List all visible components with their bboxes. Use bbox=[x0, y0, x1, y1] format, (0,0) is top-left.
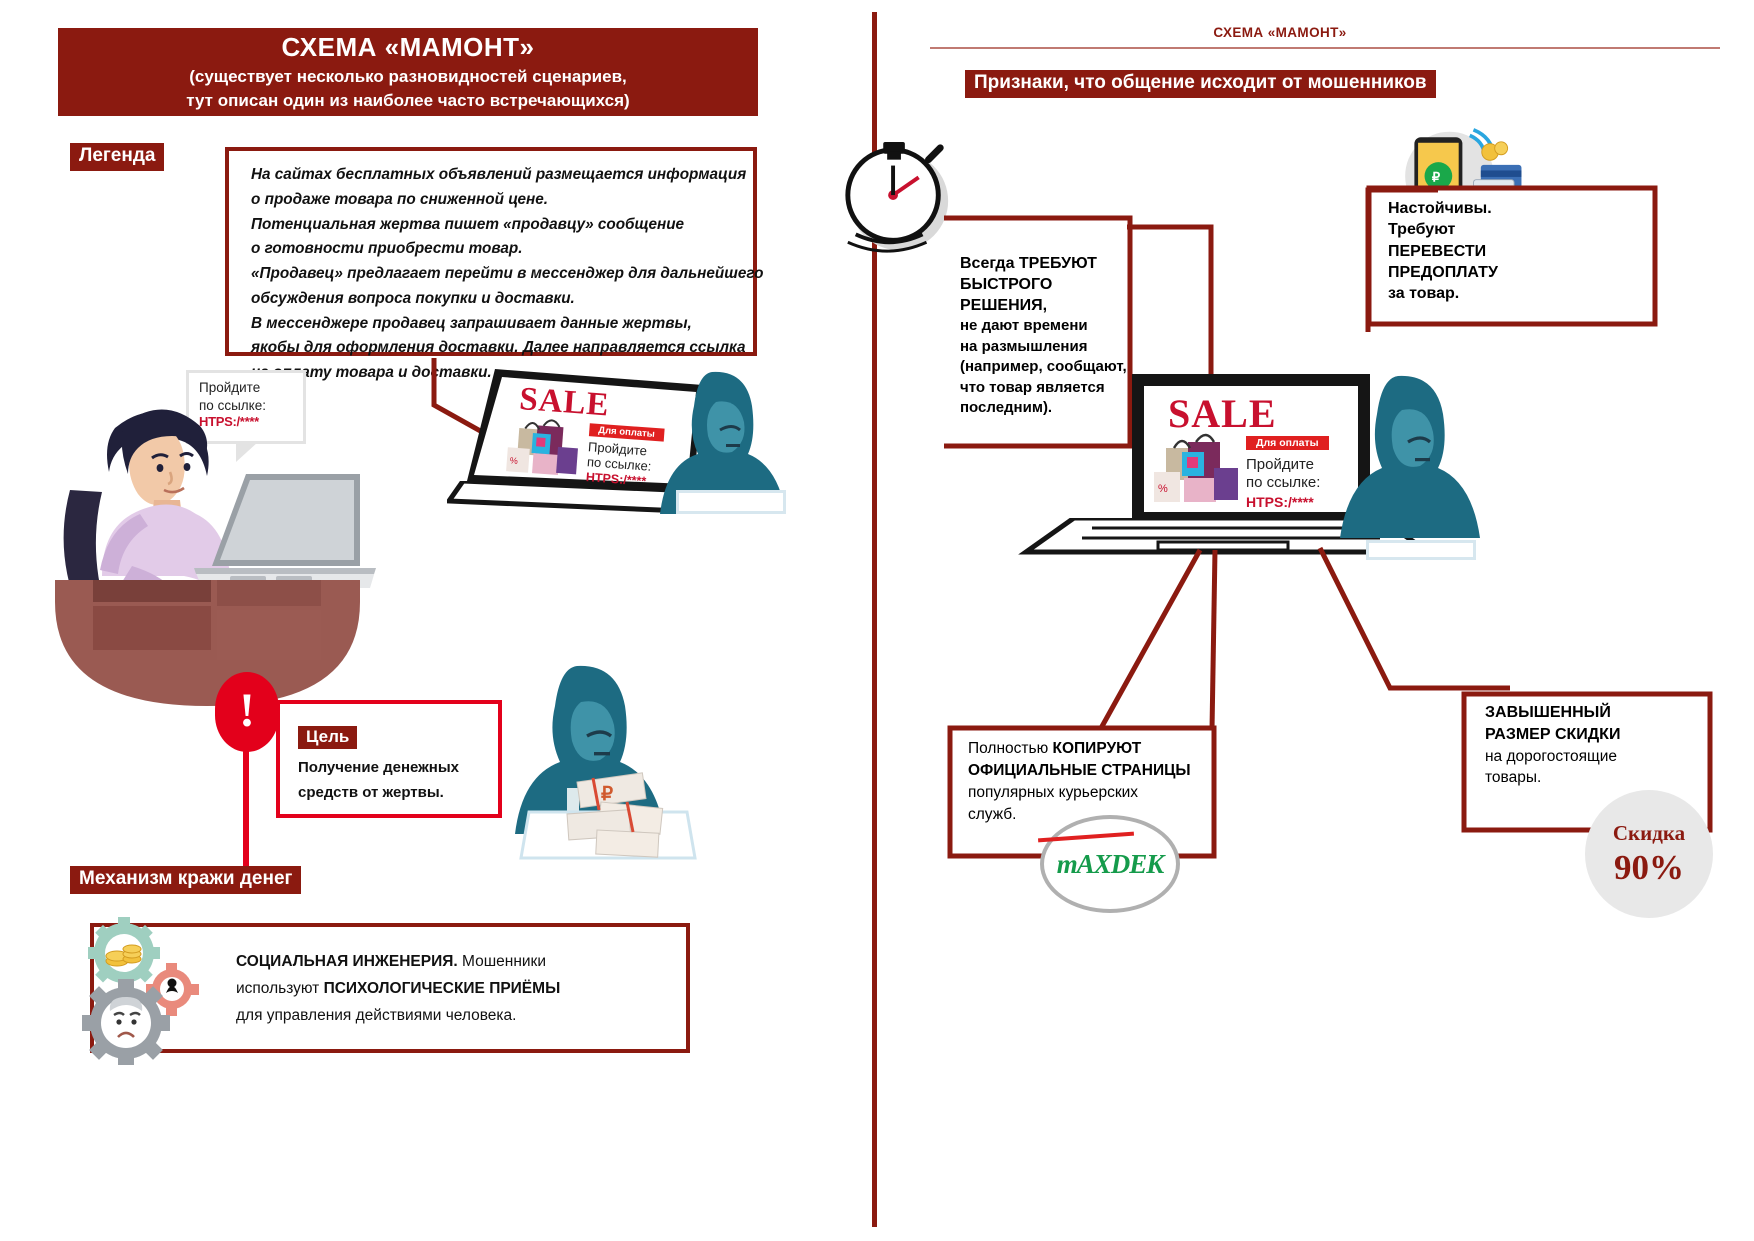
legend-line: Потенциальная жертва пишет «продавцу» со… bbox=[251, 213, 739, 238]
fd-strong2: БЫСТРОГО bbox=[960, 276, 1052, 293]
bd-l1-strong: ЗАВЫШЕННЫЙ bbox=[1485, 702, 1715, 724]
goal-text-line1: Получение денежных bbox=[298, 757, 498, 780]
leader-line-prepayment bbox=[1300, 180, 1440, 380]
legend-line: о продаже товара по сниженной цене. bbox=[251, 188, 739, 213]
legend-line: На сайтах бесплатных объявлений размещае… bbox=[251, 163, 739, 188]
page-title: СХЕМА «МАМОНТ» bbox=[281, 33, 534, 63]
courier-logo: mAXDEK bbox=[1040, 815, 1180, 913]
mech-line2-pre: используют bbox=[236, 980, 324, 997]
cp-l1-pre: Полностью bbox=[968, 740, 1053, 757]
mechanism-text: СОЦИАЛЬНАЯ ИНЖЕНЕРИЯ. Мошенники использу… bbox=[236, 948, 656, 1029]
goal-tag: Цель bbox=[298, 726, 357, 749]
page-title-banner: СХЕМА «МАМОНТ» (существует несколько раз… bbox=[58, 28, 758, 116]
shopping-bags-icon-right: % bbox=[1152, 426, 1242, 506]
exclamation-icon: ! bbox=[215, 672, 279, 752]
mech-line3: для управления действиями человека. bbox=[236, 1002, 656, 1029]
legend-tag: Легенда bbox=[70, 143, 164, 171]
screen-line1-right: Пройдите bbox=[1246, 456, 1314, 473]
bd-l3: на дорогостоящие bbox=[1485, 746, 1715, 767]
svg-text:%: % bbox=[510, 455, 519, 466]
callout-copy-pages: Полностью КОПИРУЮТ ОФИЦИАЛЬНЫЕ СТРАНИЦЫ … bbox=[968, 738, 1218, 826]
payment-badge: Для оплаты bbox=[589, 423, 664, 441]
hacker-with-money: ₽ bbox=[515, 662, 705, 872]
mechanism-tag: Механизм кражи денег bbox=[70, 866, 301, 894]
signs-tag: Признаки, что общение исходит от мошенни… bbox=[965, 70, 1436, 98]
screen-url-right: HTPS:/**** bbox=[1246, 494, 1314, 510]
hacker-laptop-left bbox=[676, 490, 786, 514]
bd-l2-strong: РАЗМЕР СКИДКИ bbox=[1485, 724, 1715, 746]
header-rule bbox=[930, 47, 1720, 49]
svg-text:%: % bbox=[1158, 483, 1168, 495]
stopwatch-icon bbox=[838, 140, 956, 258]
fd-strong3: РЕШЕНИЯ, bbox=[960, 297, 1047, 314]
left-panel: СХЕМА «МАМОНТ» (существует несколько раз… bbox=[0, 0, 872, 1241]
legend-line: обсуждения вопроса покупки и доставки. bbox=[251, 287, 739, 312]
legend-line: о готовности приобрести товар. bbox=[251, 237, 739, 262]
desk bbox=[55, 580, 365, 710]
page-subtitle-line2: тут описан один из наиболее часто встреч… bbox=[186, 90, 629, 111]
mech-line1-strong: СОЦИАЛЬНАЯ ИНЖЕНЕРИЯ. bbox=[236, 953, 458, 970]
discount-value: 90% bbox=[1614, 848, 1684, 888]
discount-badge: Скидка 90% bbox=[1585, 790, 1713, 918]
page-subtitle-line1: (существует несколько разновидностей сце… bbox=[189, 66, 627, 87]
right-page-title: СХЕМА «МАМОНТ» bbox=[1000, 25, 1560, 40]
legend-line: «Продавец» предлагает перейти в мессендж… bbox=[251, 262, 739, 287]
hacker-silhouette-right bbox=[1340, 372, 1480, 542]
goal-box: Цель Получение денежных средств от жертв… bbox=[276, 700, 502, 818]
courier-logo-text: mAXDEK bbox=[1057, 849, 1164, 880]
discount-label: Скидка bbox=[1613, 821, 1685, 846]
legend-line: В мессенджере продавец запрашивает данны… bbox=[251, 312, 739, 337]
callout-big-discount: ЗАВЫШЕННЫЙ РАЗМЕР СКИДКИ на дорогостоящи… bbox=[1485, 702, 1715, 788]
fd-strong1: Всегда ТРЕБУЮТ bbox=[960, 255, 1097, 272]
goal-connector bbox=[243, 750, 249, 870]
goal-text-line2: средств от жертвы. bbox=[298, 782, 498, 805]
legend-box: На сайтах бесплатных объявлений размещае… bbox=[225, 147, 757, 356]
cp-l2-strong: ОФИЦИАЛЬНЫЕ СТРАНИЦЫ bbox=[968, 760, 1218, 782]
gears-illustration bbox=[62, 915, 242, 1065]
shopping-bags-icon: % bbox=[504, 409, 584, 478]
payment-badge-right: Для оплаты bbox=[1246, 436, 1329, 450]
screen-line2-right: по ссылке: bbox=[1246, 474, 1320, 491]
mech-line1-rest: Мошенники bbox=[458, 953, 546, 970]
cp-l3: популярных курьерских bbox=[968, 782, 1218, 804]
mech-line2-strong: ПСИХОЛОГИЧЕСКИЕ ПРИЁМЫ bbox=[324, 980, 561, 997]
svg-text:₽: ₽ bbox=[601, 784, 613, 805]
bd-l4: товары. bbox=[1485, 767, 1715, 788]
cp-l1-strong: КОПИРУЮТ bbox=[1053, 740, 1142, 757]
